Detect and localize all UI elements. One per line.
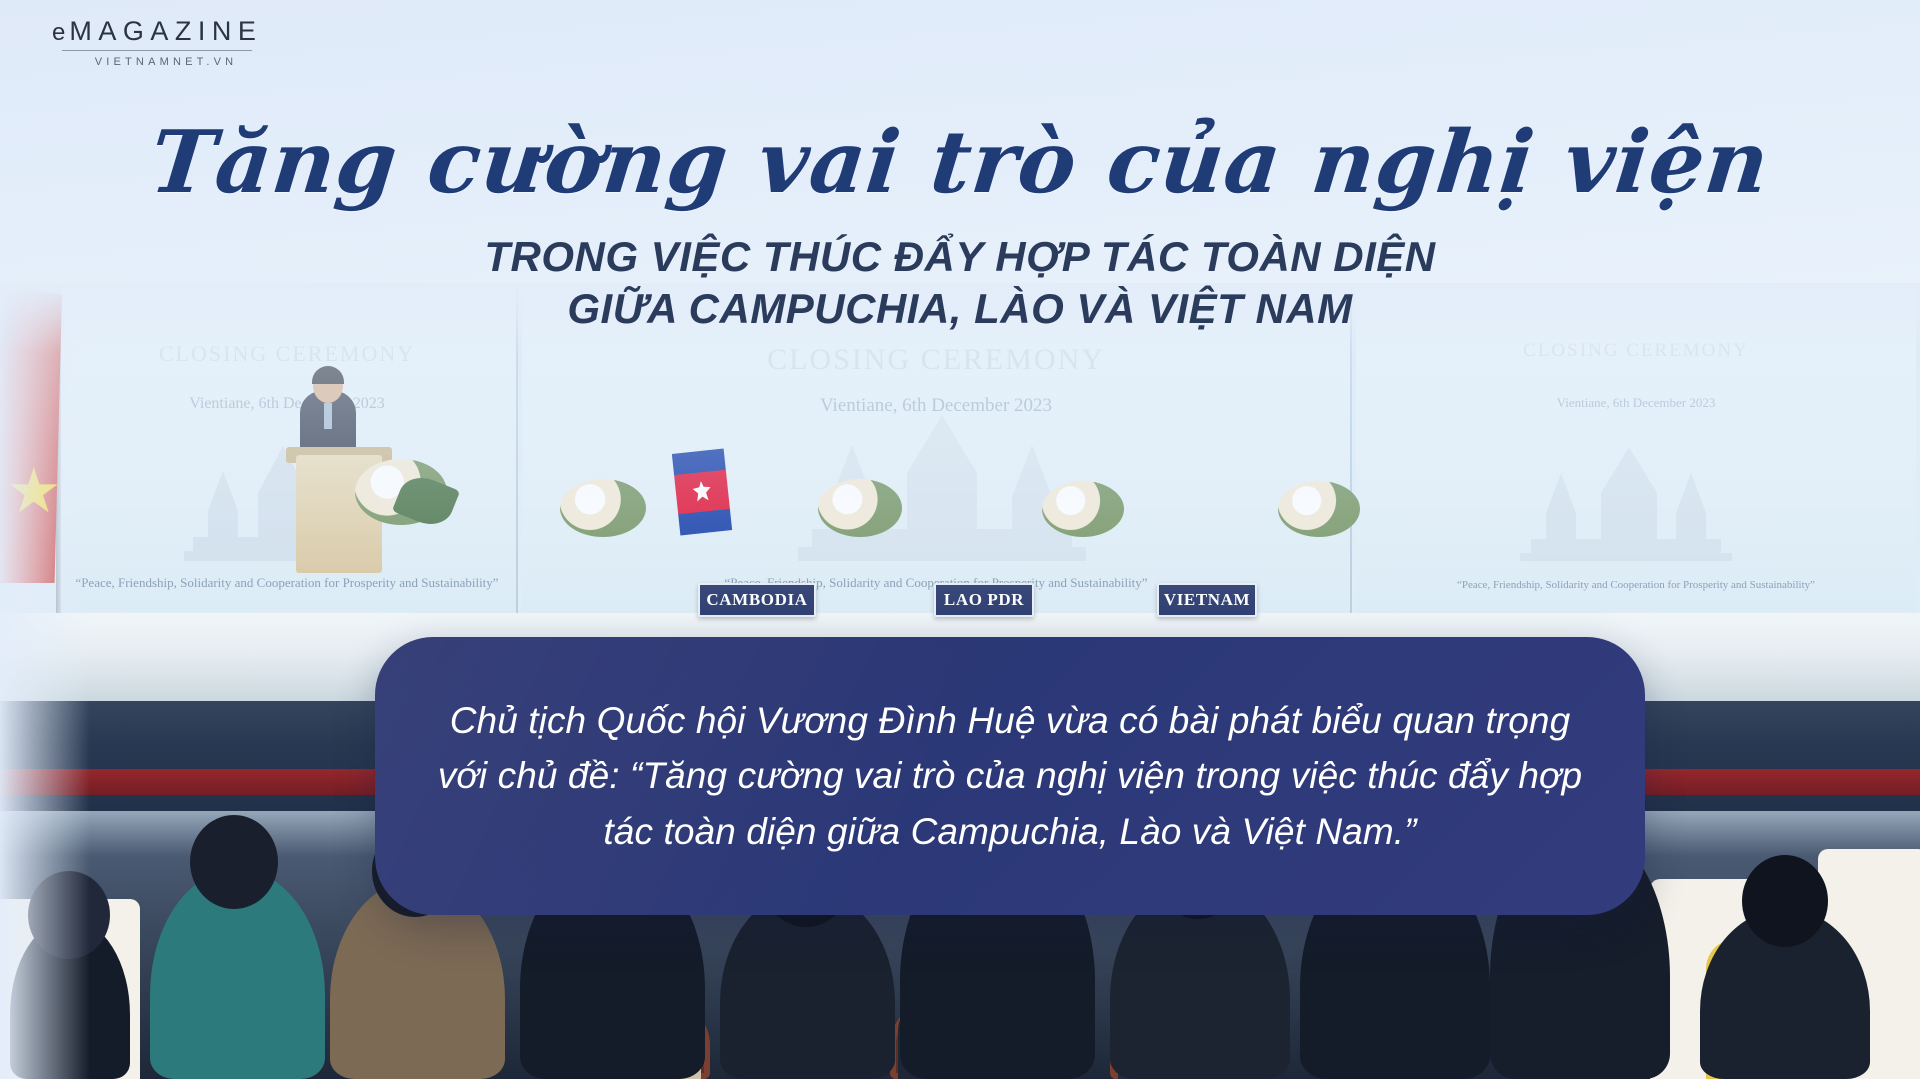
flag-star-icon: ★ — [6, 465, 60, 519]
cambodia-flag — [672, 449, 732, 536]
angkor-temple-silhouette — [1476, 441, 1776, 561]
screen-ceremony-title: CLOSING CEREMONY — [58, 341, 516, 367]
flower-arrangement — [818, 479, 902, 537]
screen-ceremony-title: CLOSING CEREMONY — [1356, 340, 1916, 362]
brand-wordmark: eMAGAZINE — [52, 18, 282, 45]
screen-motto: “Peace, Friendship, Solidarity and Coope… — [58, 575, 516, 591]
screen-ceremony-title: CLOSING CEREMONY — [522, 343, 1350, 377]
brand-lead-letter: e — [52, 19, 69, 46]
audience-head — [1742, 855, 1828, 947]
flower-arrangement — [1042, 481, 1124, 537]
screen-ceremony-date: Vientiane, 6th December 2023 — [1356, 395, 1916, 411]
audience-head — [28, 871, 110, 959]
nameplate-vietnam: VIETNAM — [1157, 583, 1257, 617]
screen-motto: “Peace, Friendship, Solidarity and Coope… — [1356, 579, 1916, 591]
masthead-divider — [62, 50, 252, 51]
emagazine-cover-page: CLOSING CEREMONY Vientiane, 6th December… — [0, 0, 1920, 1079]
subtitle-line-1: TRONG VIỆC THÚC ĐẨY HỢP TÁC TOÀN DIỆN — [0, 231, 1920, 282]
brand-main-word: MAGAZINE — [69, 16, 262, 46]
flower-arrangement — [1278, 481, 1360, 537]
screen-ceremony-date: Vientiane, 6th December 2023 — [58, 395, 516, 413]
audience-head — [190, 815, 278, 909]
caption-panel: Chủ tịch Quốc hội Vương Đình Huệ vừa có … — [375, 637, 1645, 915]
masthead-logo[interactable]: eMAGAZINE VIETNAMNET.VN — [52, 18, 282, 68]
headline-block: Tăng cường vai trò của nghị viện TRONG V… — [0, 118, 1920, 334]
page-subtitle: TRONG VIỆC THÚC ĐẨY HỢP TÁC TOÀN DIỆN GI… — [0, 231, 1920, 333]
page-title: Tăng cường vai trò của nghị viện — [0, 118, 1920, 207]
caption-text: Chủ tịch Quốc hội Vương Đình Huệ vừa có … — [375, 693, 1645, 860]
site-name: VIETNAMNET.VN — [66, 56, 266, 68]
subtitle-line-2: GIỮA CAMPUCHIA, LÀO VÀ VIỆT NAM — [0, 283, 1920, 334]
nameplate-cambodia: CAMBODIA — [698, 583, 816, 617]
speaker-tie — [324, 403, 332, 429]
nameplate-lao-pdr: LAO PDR — [934, 583, 1034, 617]
flower-arrangement — [560, 479, 646, 537]
